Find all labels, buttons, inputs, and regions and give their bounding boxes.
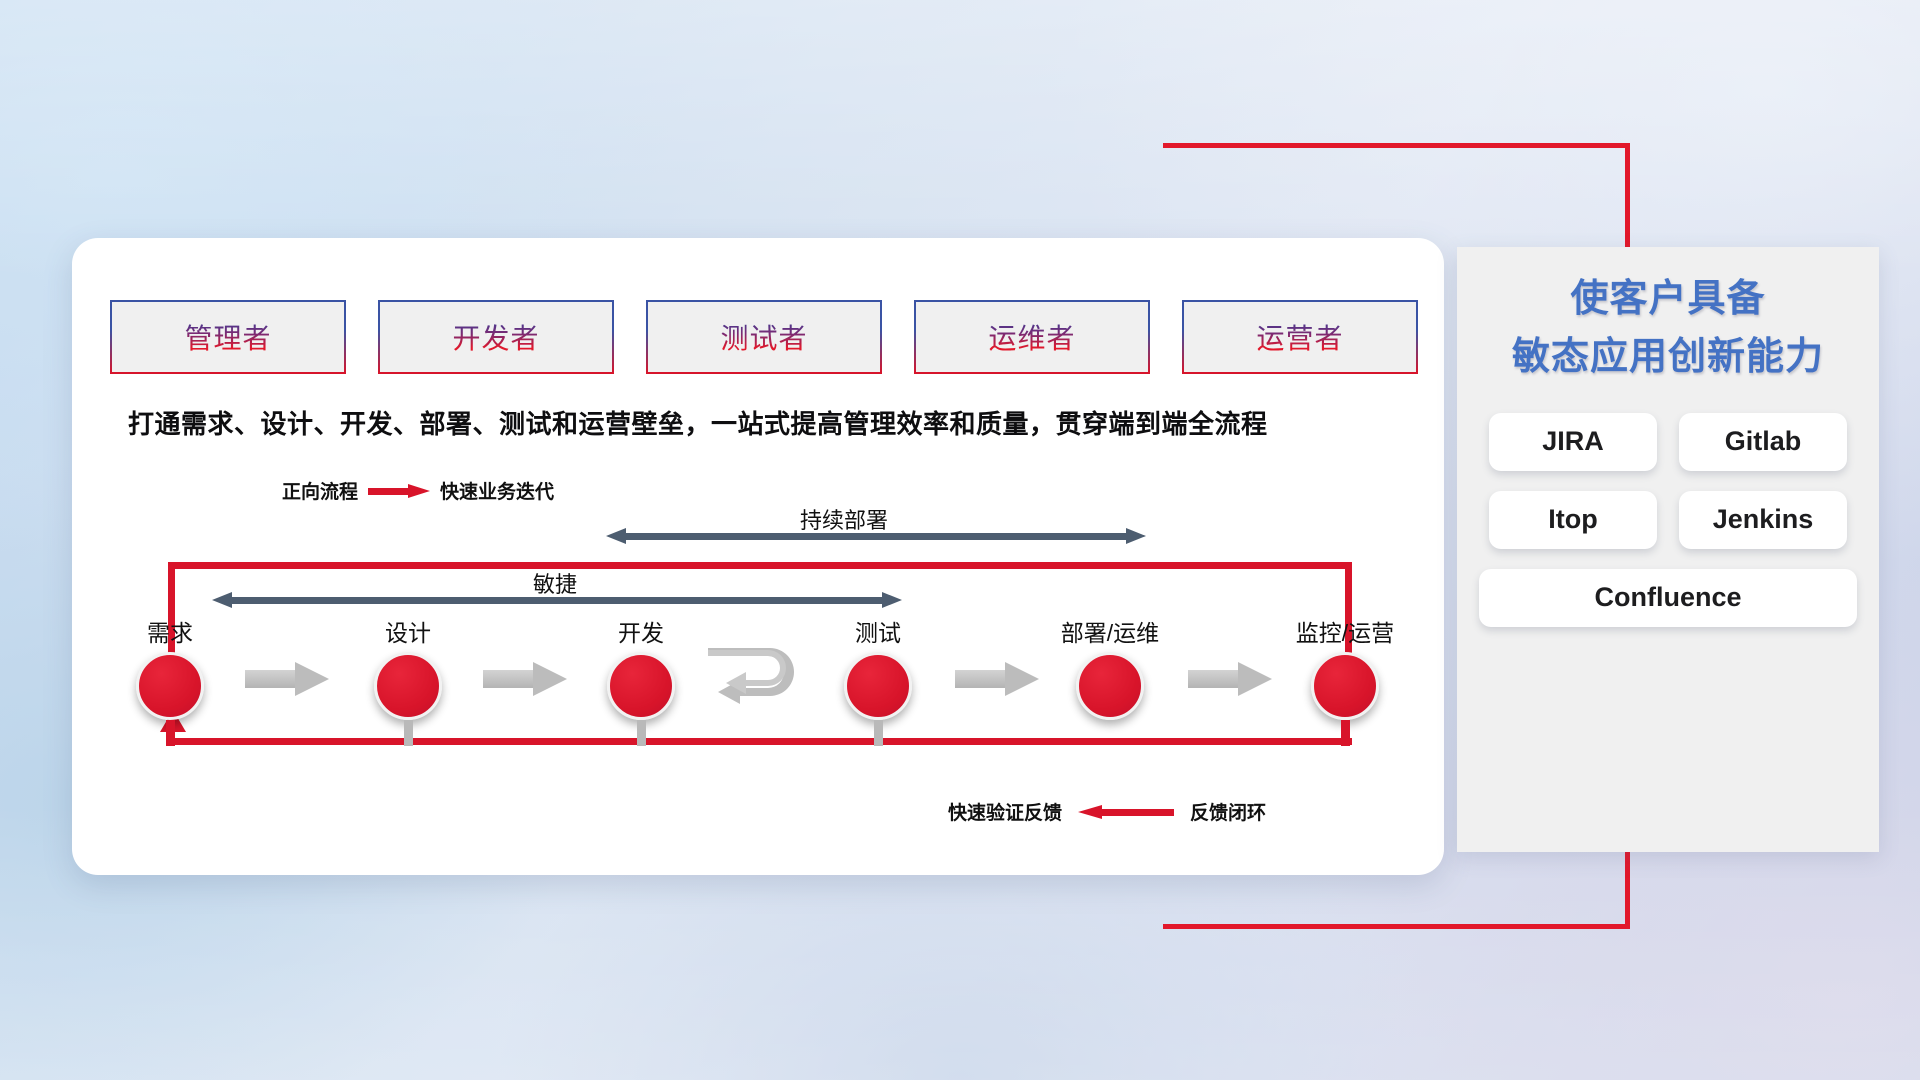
pipeline-stage-monitor-operations[interactable]: 监控/运营 — [1285, 614, 1405, 746]
legend-feedback-left-label: 快速验证反馈 — [948, 798, 1062, 825]
legend-feedback-right-label: 反馈闭环 — [1190, 798, 1266, 825]
arrow-bar — [955, 670, 1009, 688]
legend-feedback-loop: 快速验证反馈 反馈闭环 — [948, 798, 1266, 825]
role-label: 开发者 — [452, 317, 539, 357]
stage-dot-icon — [844, 652, 912, 720]
stage-stem — [166, 720, 175, 746]
role-box-row: 管理者 开发者 测试者 运维者 运营者 — [110, 300, 1418, 374]
loop-back-arrow-icon — [706, 642, 810, 704]
arrow-bar — [624, 533, 1128, 540]
tool-chip-gitlab[interactable]: Gitlab — [1679, 413, 1847, 471]
role-box-tester[interactable]: 测试者 — [646, 300, 882, 374]
panel-title-line-1: 使客户具备 — [1457, 271, 1879, 329]
stage-label: 监控/运营 — [1285, 614, 1405, 648]
panel-title-line-2: 敏态应用创新能力 — [1457, 329, 1879, 387]
legend-forward-left-label: 正向流程 — [282, 477, 358, 504]
stage-stem — [874, 720, 883, 746]
pipeline-stage-requirement[interactable]: 需求 — [110, 614, 230, 746]
red-arrow-right-icon — [368, 484, 430, 498]
pipeline-stage-test[interactable]: 测试 — [818, 614, 938, 746]
stage-stem — [637, 720, 646, 746]
role-label: 管理者 — [184, 317, 271, 357]
panel-title: 使客户具备 敏态应用创新能力 — [1457, 247, 1879, 387]
arrow-bar — [230, 597, 884, 604]
stage-label: 测试 — [818, 614, 938, 648]
stage-stem — [1341, 720, 1350, 746]
role-box-operations[interactable]: 运营者 — [1182, 300, 1418, 374]
role-box-ops[interactable]: 运维者 — [914, 300, 1150, 374]
pipeline-stage-deploy-ops[interactable]: 部署/运维 — [1050, 614, 1170, 746]
stage-label: 设计 — [348, 614, 468, 648]
arrow-head — [295, 662, 329, 696]
stage-dot-icon — [1311, 652, 1379, 720]
tool-chip-jira[interactable]: JIRA — [1489, 413, 1657, 471]
arrow-head — [1238, 662, 1272, 696]
arrow-head-right — [882, 592, 902, 608]
continuous-deploy-double-arrow — [606, 528, 1146, 544]
arrow-bar — [1188, 670, 1242, 688]
stage-dot-icon — [1076, 652, 1144, 720]
arrow-bar — [245, 670, 299, 688]
headline-text: 打通需求、设计、开发、部署、测试和运营壁垒，一站式提高管理效率和质量，贯穿端到端… — [128, 404, 1268, 441]
stage-dot-icon — [374, 652, 442, 720]
arrow-head-left — [212, 592, 232, 608]
stage-dot-icon — [136, 652, 204, 720]
gray-arrow-right-icon — [1188, 662, 1272, 696]
role-label: 测试者 — [720, 317, 807, 357]
red-arrow-left-icon — [1078, 805, 1174, 819]
tool-chip-grid: JIRA Gitlab Itop Jenkins Confluence — [1457, 413, 1879, 627]
role-box-manager[interactable]: 管理者 — [110, 300, 346, 374]
role-label: 运维者 — [988, 317, 1075, 357]
stage-label: 需求 — [110, 614, 230, 648]
role-box-developer[interactable]: 开发者 — [378, 300, 614, 374]
gray-arrow-right-icon — [483, 662, 567, 696]
stage-label: 部署/运维 — [1050, 614, 1170, 648]
arrow-bar — [483, 670, 537, 688]
stage-stem — [1106, 720, 1115, 746]
arrow-head — [533, 662, 567, 696]
arrow-head-left — [606, 528, 626, 544]
feedback-loop-top-edge — [168, 562, 1352, 569]
stage-label: 开发 — [581, 614, 701, 648]
feedback-loop-bottom-edge — [168, 738, 1352, 745]
role-label: 运营者 — [1256, 317, 1343, 357]
legend-forward-flow: 正向流程 快速业务迭代 — [282, 477, 554, 504]
stage-dot-icon — [607, 652, 675, 720]
legend-forward-right-label: 快速业务迭代 — [440, 477, 554, 504]
gray-arrow-right-icon — [955, 662, 1039, 696]
arrow-head-right — [1126, 528, 1146, 544]
gray-arrow-right-icon — [245, 662, 329, 696]
tool-chip-itop[interactable]: Itop — [1489, 491, 1657, 549]
tool-chip-jenkins[interactable]: Jenkins — [1679, 491, 1847, 549]
agile-double-arrow — [212, 592, 902, 608]
value-proposition-panel: 使客户具备 敏态应用创新能力 JIRA Gitlab Itop Jenkins … — [1457, 247, 1879, 852]
tool-chip-confluence[interactable]: Confluence — [1479, 569, 1857, 627]
stage-stem — [404, 720, 413, 746]
pipeline-stage-development[interactable]: 开发 — [581, 614, 701, 746]
pipeline-stage-design[interactable]: 设计 — [348, 614, 468, 746]
arrow-head — [1005, 662, 1039, 696]
